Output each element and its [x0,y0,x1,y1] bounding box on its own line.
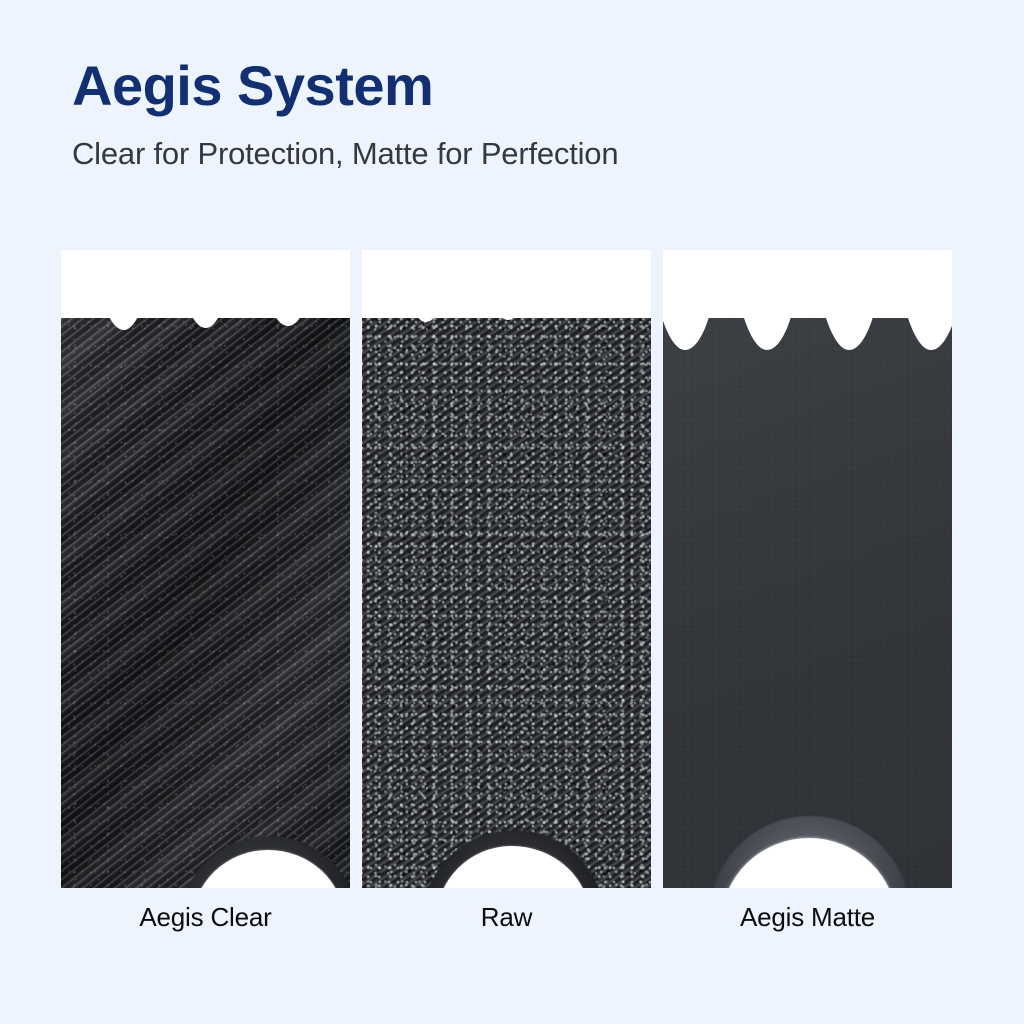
gear-teeth-clear [61,250,350,380]
gloss-sheen-clear [61,318,350,888]
gear-photo-raw [362,250,651,888]
sample-panel-aegis-clear[interactable] [61,250,350,888]
gear-body-matte [663,318,952,888]
gear-photo-aegis-clear [61,250,350,888]
gear-body-raw [362,318,651,888]
panel-label-raw: Raw [362,902,651,933]
page-subtitle: Clear for Protection, Matte for Perfecti… [72,135,952,172]
pitting-texture-raw [362,318,651,888]
comparison-strip [61,250,953,888]
sample-panel-aegis-matte[interactable] [663,250,952,888]
sample-panel-raw[interactable] [362,250,651,888]
product-comparison-page: Aegis System Clear for Protection, Matte… [0,0,1024,1024]
panel-label-aegis-matte: Aegis Matte [663,902,952,933]
gear-photo-aegis-matte [663,250,952,888]
gear-teeth-raw [362,250,651,380]
panel-label-aegis-clear: Aegis Clear [61,902,350,933]
gear-body-clear [61,318,350,888]
gear-teeth-matte [663,250,952,380]
page-title: Aegis System [72,56,952,115]
matte-shading-overlay [663,318,952,888]
panel-label-row: Aegis Clear Raw Aegis Matte [61,902,953,933]
header: Aegis System Clear for Protection, Matte… [72,56,952,173]
